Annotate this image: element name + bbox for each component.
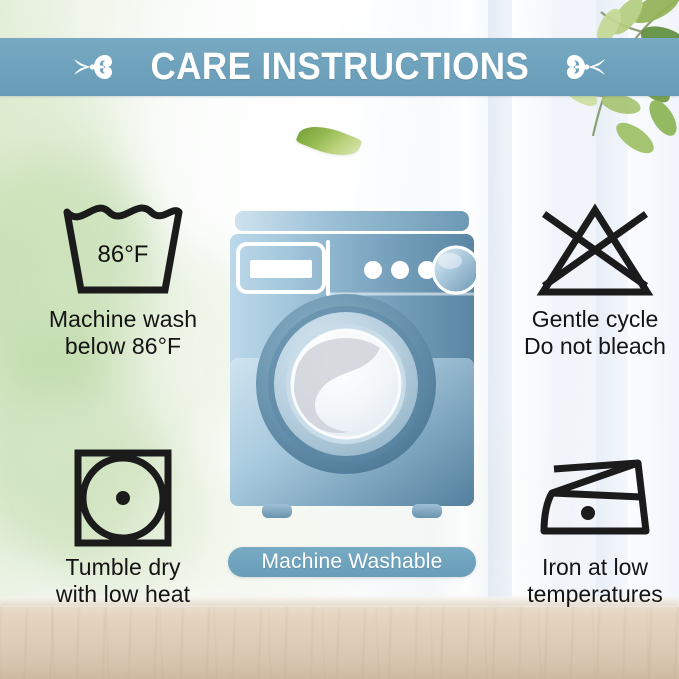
care-caption: Gentle cycle Do not bleach <box>490 306 679 360</box>
control-button <box>391 261 409 279</box>
care-item-gentle-cycle-no-bleach: Gentle cycle Do not bleach <box>490 196 679 360</box>
care-caption: Iron at low temperatures <box>490 554 679 608</box>
machine-washable-badge: Machine Washable <box>228 547 476 577</box>
iron-icon <box>490 444 679 554</box>
wash-temperature-value: 86°F <box>98 241 149 268</box>
tumble-dry-icon <box>18 444 228 554</box>
wash-tub-icon: 86°F <box>18 196 228 306</box>
care-caption: Machine wash below 86°F <box>18 306 228 360</box>
machine-foot <box>262 504 292 518</box>
wooden-table-top <box>0 607 679 679</box>
triangle-crossed-out-icon <box>490 196 679 306</box>
care-instructions-infographic: CARE INSTRUCTIONS 86°F Machine wash belo… <box>0 0 679 679</box>
page-title: CARE INSTRUCTIONS <box>150 46 529 89</box>
control-button <box>364 261 382 279</box>
washing-machine-icon <box>228 208 476 533</box>
care-item-iron-low: Iron at low temperatures <box>490 444 679 608</box>
care-item-tumble-dry: Tumble dry with low heat <box>18 444 228 608</box>
badge-label: Machine Washable <box>261 550 442 574</box>
machine-foot <box>412 504 442 518</box>
fleur-de-lis-icon <box>561 47 615 87</box>
care-item-machine-wash: 86°F Machine wash below 86°F <box>18 196 228 360</box>
care-caption: Tumble dry with low heat <box>18 554 228 608</box>
header-banner: CARE INSTRUCTIONS <box>0 38 679 96</box>
fleur-de-lis-icon <box>64 47 118 87</box>
